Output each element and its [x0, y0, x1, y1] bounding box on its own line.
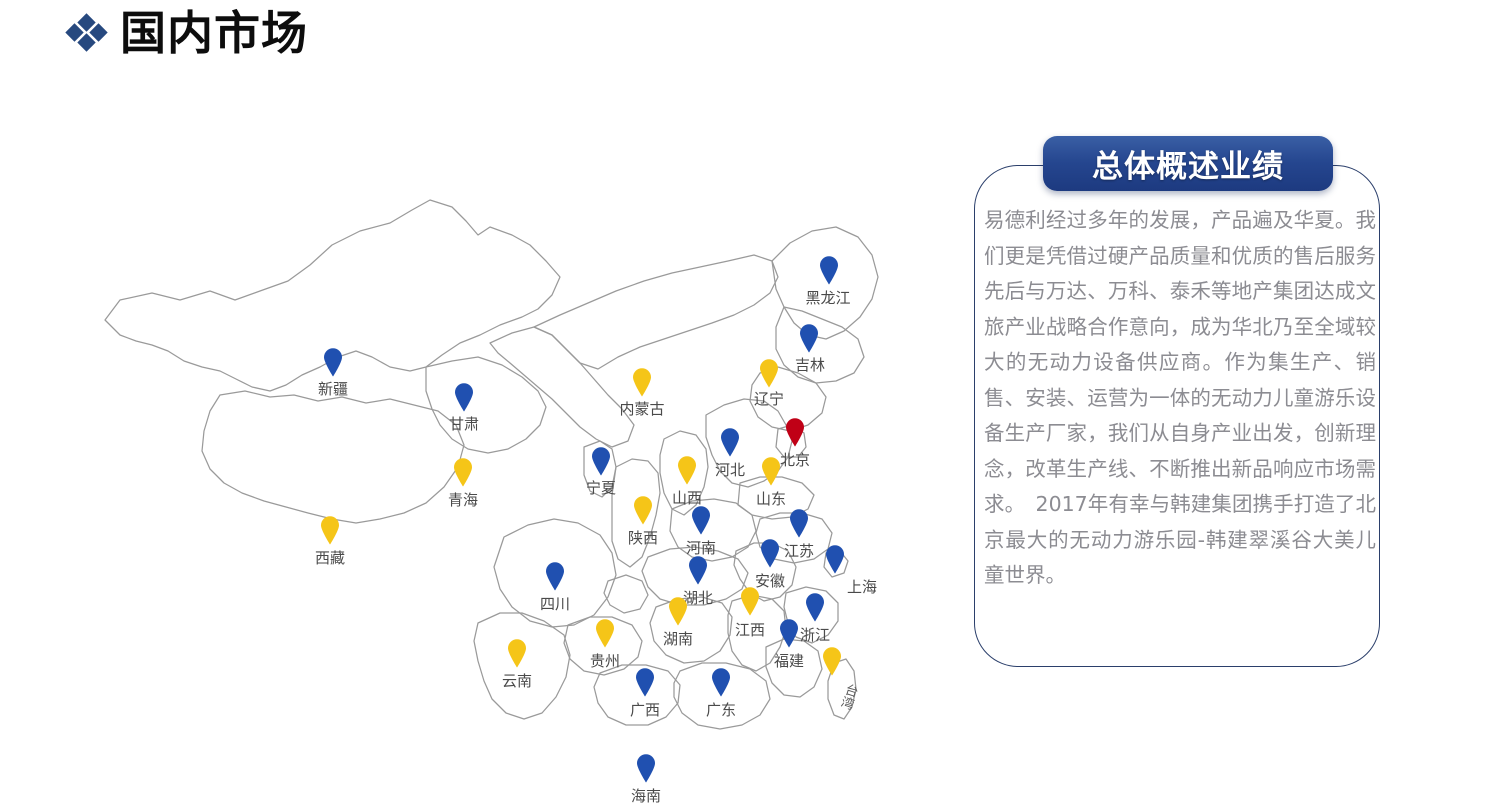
map-label-贵州: 贵州 [590, 654, 620, 669]
map-label-山东: 山东 [756, 492, 786, 507]
map-pin-辽宁[interactable] [758, 358, 780, 388]
map-pin-海南[interactable] [635, 753, 657, 783]
map-pin-江苏[interactable] [788, 508, 810, 538]
map-pin-云南[interactable] [506, 638, 528, 668]
map-label-广西: 广西 [630, 703, 660, 718]
map-label-广东: 广东 [706, 703, 736, 718]
map-pin-湖北[interactable] [687, 555, 709, 585]
map-pin-青海[interactable] [452, 457, 474, 487]
map-label-福建: 福建 [774, 654, 804, 669]
map-pin-安徽[interactable] [759, 538, 781, 568]
china-market-map: 黑龙江吉林辽宁内蒙古新疆甘肃宁夏青海西藏陕西山西河北北京山东河南江苏安徽上海湖北… [60, 95, 920, 745]
map-pin-湖南[interactable] [667, 596, 689, 626]
map-pin-新疆[interactable] [322, 347, 344, 377]
map-pin-江西[interactable] [739, 586, 761, 616]
map-pin-台湾[interactable] [821, 646, 843, 676]
map-label-浙江: 浙江 [800, 628, 830, 643]
map-pin-宁夏[interactable] [590, 446, 612, 476]
map-pin-山西[interactable] [676, 455, 698, 485]
map-pin-陕西[interactable] [632, 495, 654, 525]
overview-panel-badge-label: 总体概述业绩 [1092, 141, 1284, 186]
map-pin-甘肃[interactable] [453, 382, 475, 412]
map-label-江西: 江西 [735, 623, 765, 638]
diamond-cluster-icon [68, 14, 106, 52]
map-pin-广西[interactable] [634, 667, 656, 697]
map-label-黑龙江: 黑龙江 [805, 291, 850, 306]
map-label-辽宁: 辽宁 [754, 392, 784, 407]
overview-panel-badge: 总体概述业绩 [1043, 136, 1333, 191]
map-pin-内蒙古[interactable] [631, 367, 653, 397]
map-label-海南: 海南 [631, 789, 661, 804]
map-label-四川: 四川 [540, 597, 570, 612]
map-label-西藏: 西藏 [315, 551, 345, 566]
map-pin-四川[interactable] [544, 561, 566, 591]
map-pin-黑龙江[interactable] [818, 255, 840, 285]
map-pin-吉林[interactable] [798, 323, 820, 353]
map-pin-河北[interactable] [719, 427, 741, 457]
map-pin-浙江[interactable] [804, 592, 826, 622]
map-pin-福建[interactable] [778, 618, 800, 648]
map-label-湖南: 湖南 [663, 632, 693, 647]
map-label-陕西: 陕西 [628, 531, 658, 546]
map-pin-贵州[interactable] [594, 618, 616, 648]
map-label-北京: 北京 [780, 453, 810, 468]
map-label-青海: 青海 [448, 493, 478, 508]
map-label-江苏: 江苏 [784, 544, 814, 559]
map-label-云南: 云南 [502, 674, 532, 689]
map-label-吉林: 吉林 [795, 358, 825, 373]
map-pin-西藏[interactable] [319, 515, 341, 545]
page-title-text: 国内市场 [120, 10, 308, 56]
map-label-甘肃: 甘肃 [449, 417, 479, 432]
overview-panel-body-text: 易德利经过多年的发展，产品遍及华夏。我们更是凭借过硬产品质量和优质的售后服务先后… [984, 203, 1376, 594]
map-pin-山东[interactable] [760, 456, 782, 486]
page-title: 国内市场 [68, 10, 308, 56]
map-pin-河南[interactable] [690, 505, 712, 535]
map-label-内蒙古: 内蒙古 [619, 402, 664, 417]
map-label-河北: 河北 [715, 463, 745, 478]
map-label-新疆: 新疆 [318, 382, 348, 397]
map-pin-北京[interactable] [784, 417, 806, 447]
map-pin-上海[interactable] [824, 544, 846, 574]
map-label-山西: 山西 [672, 491, 702, 506]
map-label-上海: 上海 [847, 580, 877, 595]
map-label-宁夏: 宁夏 [586, 481, 616, 496]
map-pin-广东[interactable] [710, 667, 732, 697]
map-label-河南: 河南 [686, 541, 716, 556]
